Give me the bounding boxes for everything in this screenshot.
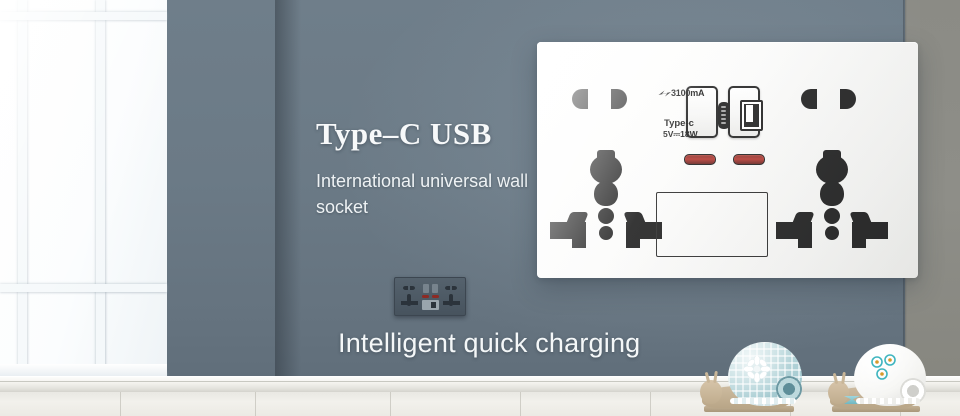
type-c-port[interactable]	[718, 102, 730, 129]
lightning-bolt-icon	[658, 89, 672, 101]
neon-indicator-left	[684, 154, 716, 165]
usb-module-frame	[656, 192, 768, 257]
snail-figurine-blue	[700, 336, 820, 416]
window-mullion-horizontal	[0, 12, 167, 20]
window-mullion-horizontal	[0, 284, 167, 292]
thumb-slot	[452, 286, 457, 290]
floor-plank-seam	[650, 392, 651, 416]
floor-plank-seam	[520, 392, 521, 416]
thumb-slot	[410, 286, 415, 290]
page-title: Type–C USB	[316, 116, 492, 152]
thumb-neon	[422, 295, 429, 298]
curtain-cast-shadow	[275, 0, 301, 398]
usb-a-port[interactable]	[740, 100, 763, 131]
snail-figurine-white	[828, 340, 946, 416]
thumb-usb-port	[431, 302, 436, 308]
tagline: Intelligent quick charging	[338, 328, 640, 359]
charging-current-label: 3100mA	[671, 88, 704, 98]
thumb-outlet	[411, 301, 418, 305]
installed-socket-on-wall	[394, 277, 466, 316]
window-mullion-vertical	[96, 0, 105, 398]
teal-flowers-icon	[868, 354, 902, 388]
thumb-switch	[423, 284, 429, 293]
product-marketing-banner: Type–C USB International universal wall …	[0, 0, 960, 416]
bright-window	[0, 0, 167, 398]
thumb-outlet	[401, 301, 408, 305]
thumb-outlet	[453, 301, 460, 305]
floor-plank-seam	[255, 392, 256, 416]
floor-plank-seam	[390, 392, 391, 416]
floor-plank-seam	[120, 392, 121, 416]
thumb-slot	[445, 286, 450, 290]
neon-indicator-right	[733, 154, 765, 165]
window-mullion-vertical	[18, 0, 27, 398]
beige-curtain	[160, 0, 285, 404]
thumb-slot	[403, 286, 408, 290]
power-output-label: 5V⎓18W	[663, 129, 698, 140]
type-c-text-label: Type-c	[664, 118, 694, 129]
thumb-switch	[432, 284, 438, 293]
daisy-flower-icon	[744, 356, 770, 382]
thumb-outlet	[443, 301, 450, 305]
thumb-neon	[432, 295, 439, 298]
subtitle: International universal wall socket	[316, 168, 546, 220]
product-socket-panel: 3100mA Type-c 5V⎓18W	[537, 42, 918, 278]
